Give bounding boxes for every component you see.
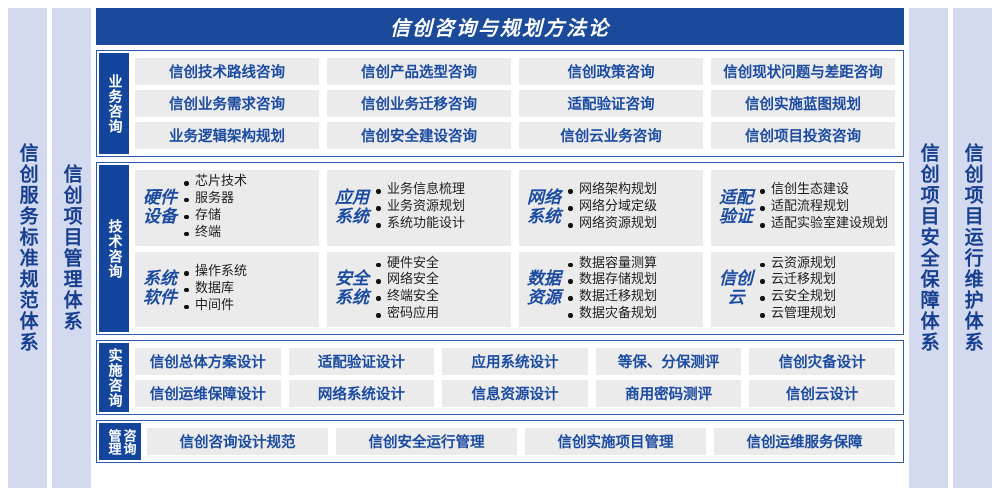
band-tab-implementation-consulting: 实施咨询 — [99, 343, 129, 412]
band-tab-consulting-management: 咨询 管理 — [99, 423, 141, 460]
card-list-item: 密码应用 — [375, 306, 505, 323]
band-technical-consulting: 技术咨询 硬件 设备 芯片技术 服务器 存储 终端 应用 系统 — [96, 162, 904, 335]
chip-item[interactable]: 信息资源设计 — [442, 380, 588, 407]
card-list-item: 数据容量测算 — [567, 256, 697, 273]
card-list-item: 存储 — [183, 208, 313, 225]
right-pillar-operation-maintenance-label: 信创项目运行维护体系 — [962, 143, 982, 353]
band-body-consulting-management: 信创咨询设计规范 信创安全运行管理 信创实施项目管理 信创运维服务保障 — [141, 423, 901, 460]
band-body-business-consulting: 信创技术路线咨询 信创产品选型咨询 信创政策咨询 信创现状问题与差距咨询 信创业… — [129, 53, 901, 154]
card-list: 云资源规划 云迁移规划 云安全规划 云管理规划 — [759, 256, 889, 324]
card-list: 芯片技术 服务器 存储 终端 — [183, 174, 313, 242]
left-pillar-service-standard-label: 信创服务标准规范体系 — [17, 143, 37, 353]
card-title: 系统 软件 — [143, 270, 177, 308]
card-list-item: 云安全规划 — [759, 289, 889, 306]
right-pillar-operation-maintenance: 信创项目运行维护体系 — [953, 8, 992, 488]
right-pillar-security-assurance-label: 信创项目安全保障体系 — [918, 143, 938, 353]
card-list-item: 数据存储规划 — [567, 272, 697, 289]
chip-row: 信创咨询设计规范 信创安全运行管理 信创实施项目管理 信创运维服务保障 — [147, 428, 895, 455]
band-tab-implementation-consulting-label: 实施咨询 — [106, 348, 121, 408]
chip-item[interactable]: 信创总体方案设计 — [135, 348, 281, 375]
card-list-item: 信创生态建设 — [759, 182, 889, 199]
card-list-item: 操作系统 — [183, 264, 313, 281]
card-list-item: 业务信息梳理 — [375, 182, 505, 199]
card-list-item: 云资源规划 — [759, 256, 889, 273]
chip-row: 信创总体方案设计 适配验证设计 应用系统设计 等保、分保测评 信创灾备设计 — [135, 348, 895, 375]
card-data-resource[interactable]: 数据 资源 数据容量测算 数据存储规划 数据迁移规划 数据灾备规划 — [519, 252, 703, 328]
card-system-software[interactable]: 系统 软件 操作系统 数据库 中间件 — [135, 252, 319, 328]
chip-item[interactable]: 信创业务迁移咨询 — [327, 90, 511, 117]
band-business-consulting: 业务咨询 信创技术路线咨询 信创产品选型咨询 信创政策咨询 信创现状问题与差距咨… — [96, 50, 904, 157]
band-tab-business-consulting: 业务咨询 — [99, 53, 129, 154]
chip-item[interactable]: 应用系统设计 — [442, 348, 588, 375]
card-list-item: 终端 — [183, 225, 313, 242]
card-list: 网络架构规划 网络分域定级 网络资源规划 — [567, 182, 697, 233]
main-column: 信创咨询与规划方法论 业务咨询 信创技术路线咨询 信创产品选型咨询 信创政策咨询… — [96, 8, 904, 488]
card-list: 业务信息梳理 业务资源规划 系统功能设计 — [375, 182, 505, 233]
card-title: 安全 系统 — [335, 270, 369, 308]
card-title: 应用 系统 — [335, 189, 369, 227]
chip-item[interactable]: 信创业务需求咨询 — [135, 90, 319, 117]
card-list-item: 网络架构规划 — [567, 182, 697, 199]
right-pillar-security-assurance: 信创项目安全保障体系 — [909, 8, 948, 488]
chip-item[interactable]: 信创灾备设计 — [749, 348, 895, 375]
chip-item[interactable]: 信创云设计 — [749, 380, 895, 407]
chip-item[interactable]: 等保、分保测评 — [596, 348, 742, 375]
chip-item[interactable]: 信创产品选型咨询 — [327, 58, 511, 85]
chip-item[interactable]: 信创咨询设计规范 — [147, 428, 328, 455]
chip-item[interactable]: 适配验证设计 — [289, 348, 435, 375]
chip-item[interactable]: 信创运维保障设计 — [135, 380, 281, 407]
diagram-title-text: 信创咨询与规划方法论 — [390, 12, 610, 41]
card-list-item: 数据灾备规划 — [567, 306, 697, 323]
left-pillar-project-management: 信创项目管理体系 — [52, 8, 91, 488]
diagram-title: 信创咨询与规划方法论 — [96, 8, 904, 45]
card-title: 网络 系统 — [527, 189, 561, 227]
chip-row: 信创技术路线咨询 信创产品选型咨询 信创政策咨询 信创现状问题与差距咨询 — [135, 58, 895, 85]
chip-item[interactable]: 信创安全建设咨询 — [327, 122, 511, 149]
card-row: 硬件 设备 芯片技术 服务器 存储 终端 应用 系统 业务信息梳理 业务资源规划 — [135, 170, 895, 246]
left-pillar-service-standard: 信创服务标准规范体系 — [8, 8, 47, 488]
card-list-item: 网络资源规划 — [567, 216, 697, 233]
card-list-item: 云迁移规划 — [759, 272, 889, 289]
chip-row: 信创运维保障设计 网络系统设计 信息资源设计 商用密码测评 信创云设计 — [135, 380, 895, 407]
chip-row: 信创业务需求咨询 信创业务迁移咨询 适配验证咨询 信创实施蓝图规划 — [135, 90, 895, 117]
card-list-item: 网络安全 — [375, 272, 505, 289]
card-list: 数据容量测算 数据存储规划 数据迁移规划 数据灾备规划 — [567, 256, 697, 324]
card-list-item: 终端安全 — [375, 289, 505, 306]
diagram-root: 信创服务标准规范体系 信创项目管理体系 信创咨询与规划方法论 业务咨询 信创技术… — [0, 0, 1000, 496]
card-title: 信创 云 — [719, 270, 753, 308]
chip-item[interactable]: 信创技术路线咨询 — [135, 58, 319, 85]
card-xinchuang-cloud[interactable]: 信创 云 云资源规划 云迁移规划 云安全规划 云管理规划 — [711, 252, 895, 328]
band-body-implementation-consulting: 信创总体方案设计 适配验证设计 应用系统设计 等保、分保测评 信创灾备设计 信创… — [129, 343, 901, 412]
card-list-item: 云管理规划 — [759, 306, 889, 323]
band-tab-technical-consulting-label: 技术咨询 — [106, 219, 121, 279]
card-title: 硬件 设备 — [143, 189, 177, 227]
chip-item[interactable]: 适配验证咨询 — [519, 90, 703, 117]
chip-item[interactable]: 信创运维服务保障 — [714, 428, 895, 455]
chip-item[interactable]: 信创现状问题与差距咨询 — [711, 58, 895, 85]
chip-item[interactable]: 信创实施项目管理 — [525, 428, 706, 455]
chip-item[interactable]: 商用密码测评 — [596, 380, 742, 407]
left-pillar-project-management-label: 信创项目管理体系 — [61, 164, 81, 332]
card-title: 适配 验证 — [719, 189, 753, 227]
chip-item[interactable]: 业务逻辑架构规划 — [135, 122, 319, 149]
card-security-system[interactable]: 安全 系统 硬件安全 网络安全 终端安全 密码应用 — [327, 252, 511, 328]
card-adaptation-verification[interactable]: 适配 验证 信创生态建设 适配流程规划 适配实验室建设规划 — [711, 170, 895, 246]
band-tab-technical-consulting: 技术咨询 — [99, 165, 129, 332]
band-tab-consulting-management-label-1: 咨询 — [121, 429, 135, 455]
card-list-item: 数据库 — [183, 281, 313, 298]
card-title: 数据 资源 — [527, 270, 561, 308]
card-list-item: 服务器 — [183, 191, 313, 208]
band-consulting-management: 咨询 管理 信创咨询设计规范 信创安全运行管理 信创实施项目管理 信创运维服务保… — [96, 420, 904, 463]
band-tab-business-consulting-label: 业务咨询 — [106, 74, 121, 134]
chip-item[interactable]: 信创实施蓝图规划 — [711, 90, 895, 117]
card-row: 系统 软件 操作系统 数据库 中间件 安全 系统 硬件安全 网络安全 终端安全 — [135, 252, 895, 328]
chip-item[interactable]: 网络系统设计 — [289, 380, 435, 407]
card-list: 操作系统 数据库 中间件 — [183, 264, 313, 315]
card-list-item: 数据迁移规划 — [567, 289, 697, 306]
band-body-technical-consulting: 硬件 设备 芯片技术 服务器 存储 终端 应用 系统 业务信息梳理 业务资源规划 — [129, 165, 901, 332]
chip-item[interactable]: 信创安全运行管理 — [336, 428, 517, 455]
card-list: 信创生态建设 适配流程规划 适配实验室建设规划 — [759, 182, 889, 233]
card-list-item: 网络分域定级 — [567, 199, 697, 216]
card-list: 硬件安全 网络安全 终端安全 密码应用 — [375, 256, 505, 324]
card-list-item: 硬件安全 — [375, 256, 505, 273]
card-application-system[interactable]: 应用 系统 业务信息梳理 业务资源规划 系统功能设计 — [327, 170, 511, 246]
band-implementation-consulting: 实施咨询 信创总体方案设计 适配验证设计 应用系统设计 等保、分保测评 信创灾备… — [96, 340, 904, 415]
card-list-item: 芯片技术 — [183, 174, 313, 191]
band-tab-consulting-management-labels: 咨询 管理 — [105, 429, 134, 455]
card-list-item: 适配实验室建设规划 — [759, 216, 889, 233]
card-list-item: 中间件 — [183, 298, 313, 315]
chip-item[interactable]: 信创云业务咨询 — [519, 122, 703, 149]
card-list-item: 适配流程规划 — [759, 199, 889, 216]
card-list-item: 业务资源规划 — [375, 199, 505, 216]
chip-item[interactable]: 信创项目投资咨询 — [711, 122, 895, 149]
card-hardware-device[interactable]: 硬件 设备 芯片技术 服务器 存储 终端 — [135, 170, 319, 246]
card-list-item: 系统功能设计 — [375, 216, 505, 233]
card-network-system[interactable]: 网络 系统 网络架构规划 网络分域定级 网络资源规划 — [519, 170, 703, 246]
chip-row: 业务逻辑架构规划 信创安全建设咨询 信创云业务咨询 信创项目投资咨询 — [135, 122, 895, 149]
band-tab-consulting-management-label-2: 管理 — [105, 429, 119, 455]
chip-item[interactable]: 信创政策咨询 — [519, 58, 703, 85]
